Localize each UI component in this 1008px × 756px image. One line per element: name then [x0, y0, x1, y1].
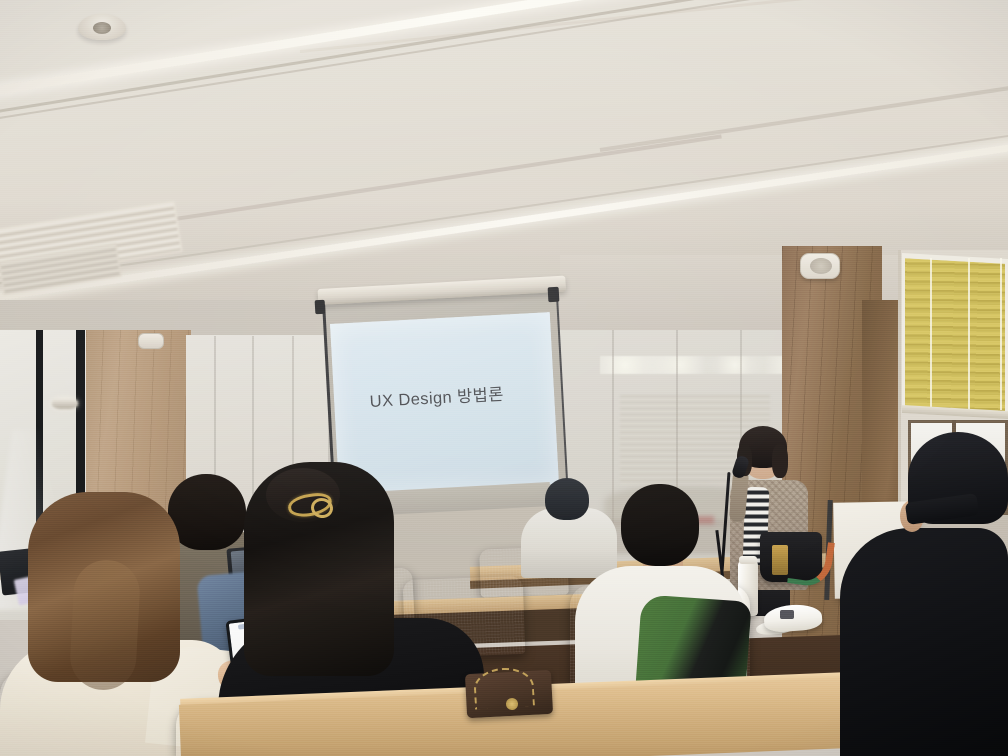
- student-black-cap-body: [840, 528, 1008, 756]
- blind-cord: [930, 258, 932, 410]
- student-white-shirt-head: [621, 484, 699, 566]
- handbag-clasp: [506, 698, 518, 710]
- screen-housing-end-cap: [548, 287, 560, 303]
- student-grey-sweatshirt-head: [545, 478, 589, 520]
- cap-logo: [780, 610, 794, 619]
- hair-strand: [69, 558, 142, 691]
- thermos-cap: [739, 556, 757, 564]
- wall-light: [52, 398, 78, 409]
- blind-cord: [968, 258, 970, 410]
- smoke-detector-core: [93, 22, 111, 34]
- wall-speaker-icon: [138, 333, 164, 349]
- screen-housing-end-cap: [315, 300, 326, 315]
- bag-contents: [772, 545, 788, 575]
- window-blinds: [902, 253, 1008, 419]
- presenter-hair-side: [772, 444, 788, 478]
- classroom-lecture-photo: UX Design 방법론: [0, 0, 1008, 756]
- student-olive-shirt-hair: [168, 474, 246, 550]
- blind-cord: [1000, 258, 1002, 410]
- speaker-grille: [810, 258, 832, 274]
